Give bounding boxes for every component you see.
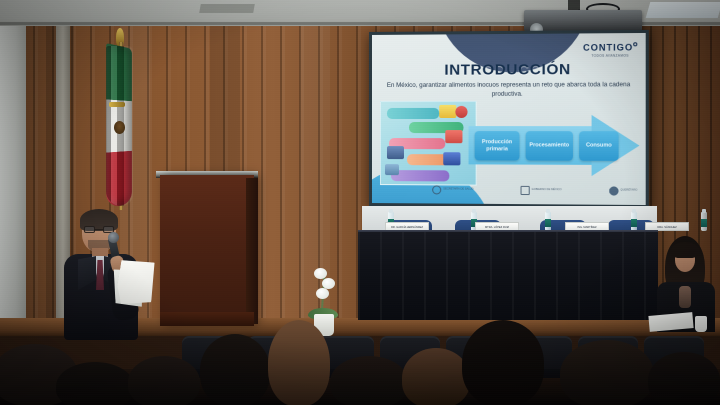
projector-body — [524, 10, 642, 31]
presenter-papers — [115, 257, 158, 308]
process-arrow: Producción primaria Procesamiento Consum… — [469, 115, 642, 176]
table-skirt-folds — [358, 232, 658, 320]
slide-title: INTRODUCCIÓN — [372, 61, 646, 79]
infographic-chip — [387, 146, 404, 159]
microphone-head-icon — [108, 232, 119, 243]
auditorium-presentation-photo: CONTIGO TODOS AVANZAMOS INTRODUCCIÓN En … — [0, 0, 720, 405]
bottle-label — [631, 219, 637, 227]
podium-base — [160, 312, 254, 326]
audience-head — [128, 356, 200, 405]
bottle-cap — [546, 209, 549, 213]
slide-footer-logos: SECRETARÍA DE SALUD GOBIERNO DE MÉXICO Q… — [432, 182, 637, 197]
emblem-icon — [520, 185, 529, 194]
flow-box-produccion-primaria: Producción primaria — [475, 131, 520, 160]
bottle-cap — [702, 209, 705, 213]
ceiling-vent — [199, 4, 255, 13]
flag-gold-band — [109, 102, 125, 107]
infographic-band — [391, 170, 449, 181]
flow-box-consumo: Consumo — [579, 131, 618, 161]
logo-institucion-2-text: GOBIERNO DE MÉXICO — [531, 188, 561, 191]
cadena-productiva-infographic — [380, 101, 477, 186]
orchid-flower — [316, 288, 329, 299]
audience-head — [560, 340, 654, 405]
infographic-chip — [443, 152, 460, 165]
bottle-cap — [389, 209, 392, 213]
water-bottle — [701, 207, 707, 231]
audience-head — [268, 320, 330, 405]
slide-subtitle: En México, garantizar alimentos inocuos … — [382, 81, 635, 100]
orchid-flower — [314, 268, 327, 279]
audience-head — [648, 352, 720, 405]
bottle-label — [545, 219, 551, 227]
queretaro-mark-icon — [609, 186, 618, 195]
contigo-logo: CONTIGO TODOS AVANZAMOS — [583, 42, 637, 58]
bottle-cap — [632, 209, 635, 213]
infographic-chip — [455, 106, 467, 118]
seated-panelist — [655, 236, 717, 332]
contigo-logo-dot-icon — [633, 42, 637, 46]
infographic-band — [387, 108, 439, 119]
logo-institucion-2: GOBIERNO DE MÉXICO — [520, 185, 561, 194]
ceiling-light — [646, 2, 720, 18]
water-bottle — [545, 207, 551, 231]
ceiling-projector — [524, 0, 642, 32]
podium-side-panel — [246, 178, 258, 324]
panel-table-skirt — [358, 232, 658, 320]
audience-head — [402, 348, 470, 405]
wall-pillar-left — [0, 26, 26, 336]
panelist-hair-front — [671, 242, 699, 258]
audience-head — [330, 356, 408, 405]
contigo-logo-name: CONTIGO — [583, 42, 637, 53]
projection-screen: CONTIGO TODOS AVANZAMOS INTRODUCCIÓN En … — [369, 30, 649, 208]
logo-institucion-1-text: SECRETARÍA DE SALUD — [443, 188, 473, 191]
bottle-label — [701, 219, 707, 227]
logo-queretaro: QUERÉTARO — [609, 186, 637, 195]
infographic-chip — [385, 164, 399, 175]
contigo-logo-text: CONTIGO — [583, 42, 633, 53]
flow-box-procesamiento: Procesamiento — [526, 131, 573, 161]
infographic-chip — [439, 105, 456, 118]
audience-head — [200, 334, 270, 405]
audience-head — [462, 320, 544, 405]
logo-queretaro-text: QUERÉTARO — [620, 189, 637, 192]
water-bottle — [631, 207, 637, 231]
contigo-logo-tagline: TODOS AVANZAMOS — [583, 53, 637, 57]
magnifier-icon — [432, 185, 441, 194]
bottle-cap — [472, 209, 475, 213]
wooden-podium — [160, 175, 254, 325]
audience-head — [56, 362, 134, 405]
flag-eagle-emblem-icon — [114, 121, 125, 134]
infographic-chip — [445, 130, 462, 143]
mexican-flag — [100, 28, 142, 208]
presentation-slide: CONTIGO TODOS AVANZAMOS INTRODUCCIÓN En … — [372, 33, 646, 205]
logo-institucion-1: SECRETARÍA DE SALUD — [432, 185, 473, 194]
panelist-blouse — [679, 286, 691, 308]
presenter-at-podium — [48, 212, 168, 340]
